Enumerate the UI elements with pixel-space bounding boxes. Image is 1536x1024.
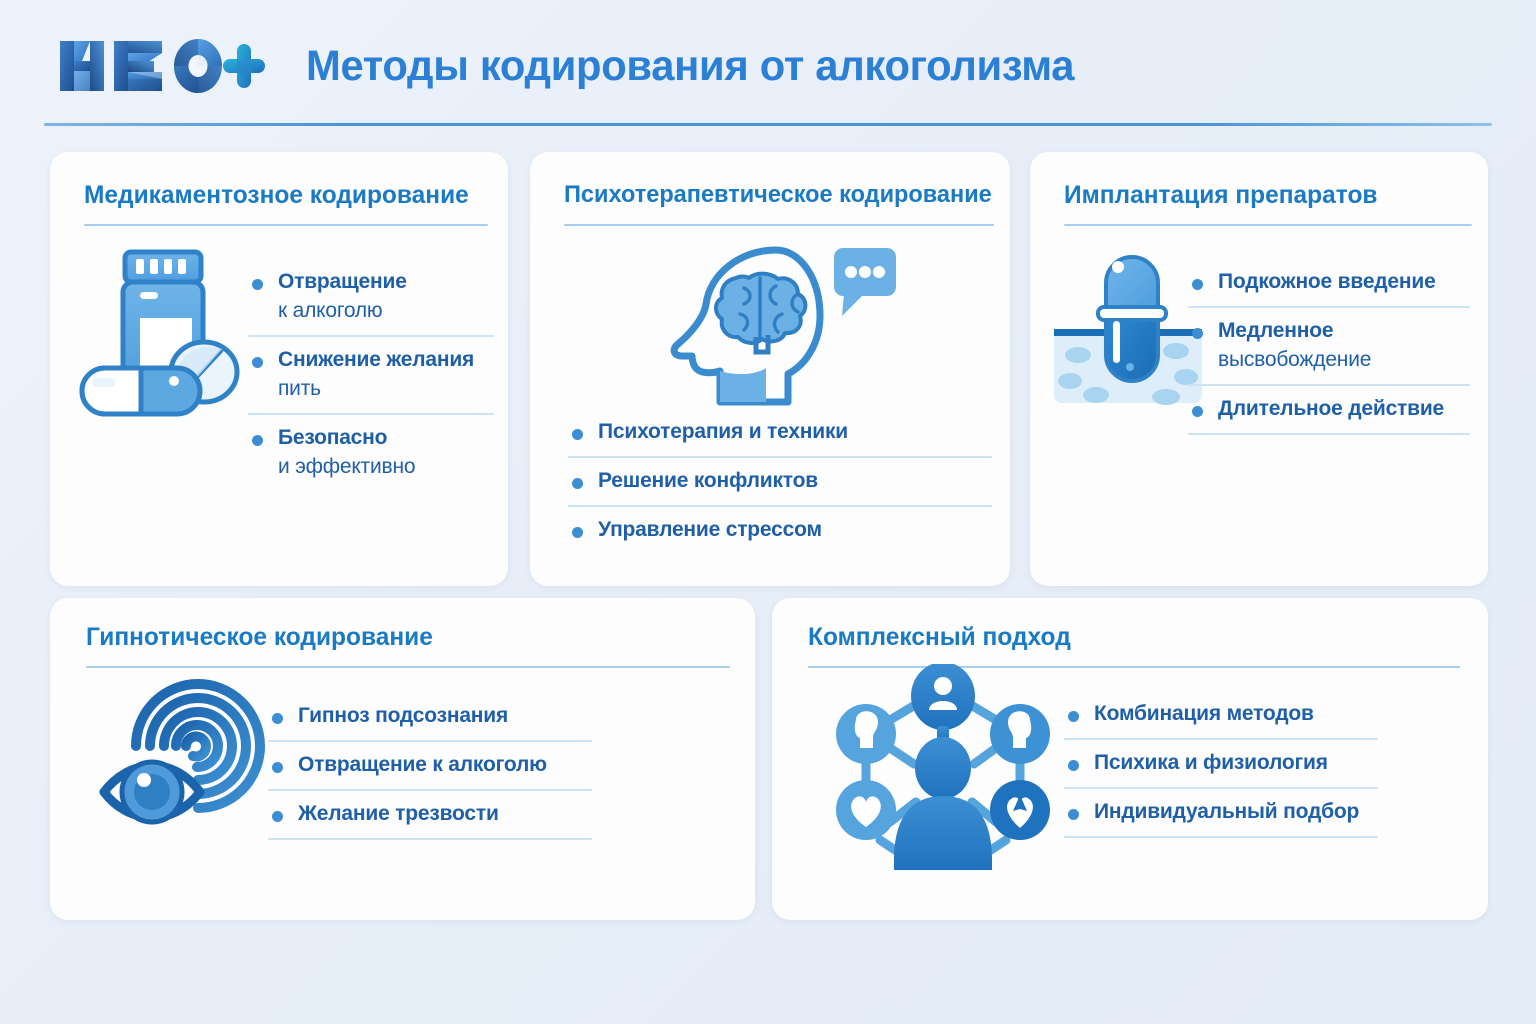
bullet-divider	[1188, 384, 1470, 386]
bullet-dot-icon	[572, 429, 583, 440]
bullet-divider	[1188, 433, 1470, 435]
bullet-divider	[568, 505, 992, 507]
neo-plus-logo	[56, 35, 268, 97]
page-title: Методы кодирования от алкоголизма	[306, 45, 1074, 88]
bullet-item: Отвращение к алкоголю	[252, 268, 494, 326]
bullet-item: Отвращение к алкоголю	[272, 751, 592, 780]
head-brain-speech-icon	[648, 242, 898, 417]
bullet-item: Снижение желания пить	[252, 346, 494, 404]
bullet-primary-text: Отвращение к алкоголю	[298, 751, 592, 780]
bullet-primary-text: Управление стрессом	[598, 516, 992, 545]
bullet-divider	[248, 413, 494, 415]
bullet-item: Решение конфликтов	[572, 467, 992, 496]
page-header: Методы кодирования от алкоголизма	[0, 0, 1536, 132]
bullet-divider	[268, 789, 592, 791]
bullet-dot-icon	[1068, 809, 1079, 820]
bullet-list: Психотерапия и техники Решение конфликто…	[572, 418, 992, 545]
card-title-divider	[564, 224, 994, 226]
bullet-item: Подкожное введение	[1192, 268, 1470, 297]
bullet-item: Психика и физиология	[1068, 749, 1378, 778]
bullet-secondary-text: и эффективно	[252, 453, 494, 482]
bullet-divider	[568, 456, 992, 458]
bullet-divider	[1064, 836, 1378, 838]
card-title-divider	[84, 224, 488, 226]
bullet-primary-text: Отвращение	[278, 268, 494, 297]
hypnosis-spiral-eye-icon	[98, 668, 276, 840]
bullet-dot-icon	[272, 713, 283, 724]
bullet-primary-text: Желание трезвости	[298, 800, 592, 829]
bullet-dot-icon	[1068, 711, 1079, 722]
bullet-item: Индивидуальный подбор	[1068, 798, 1378, 827]
card-title: Имплантация препаратов	[1064, 182, 1377, 210]
people-network-icon	[832, 664, 1054, 876]
bullet-item: Психотерапия и техники	[572, 418, 992, 447]
bullet-divider	[1064, 787, 1378, 789]
card-title: Психотерапевтическое кодирование	[564, 182, 992, 208]
bullet-divider	[1064, 738, 1378, 740]
bullet-secondary-text: к алкоголю	[252, 297, 494, 326]
bullet-dot-icon	[1192, 406, 1203, 417]
bullet-primary-text: Индивидуальный подбор	[1094, 798, 1378, 827]
bullet-divider	[268, 838, 592, 840]
bullet-list: Отвращение к алкоголю Снижение желания п…	[252, 268, 494, 482]
bullet-item: Управление стрессом	[572, 516, 992, 545]
bullet-divider	[248, 335, 494, 337]
bullet-primary-text: Гипноз подсознания	[298, 702, 592, 731]
bullet-primary-text: Длительное действие	[1218, 395, 1470, 424]
bullet-dot-icon	[572, 478, 583, 489]
bullet-primary-text: Снижение желания	[278, 346, 494, 375]
bullet-item: Гипноз подсознания	[272, 702, 592, 731]
bullet-dot-icon	[272, 811, 283, 822]
infographic-page: Методы кодирования от алкоголизма Медика…	[0, 0, 1536, 1024]
bullet-dot-icon	[1192, 328, 1203, 339]
bullet-primary-text: Психика и физиология	[1094, 749, 1378, 778]
bullet-dot-icon	[252, 357, 263, 368]
card-title-divider	[1064, 224, 1472, 226]
bullet-dot-icon	[1068, 760, 1079, 771]
card-title: Медикаментозное кодирование	[84, 182, 469, 210]
pill-bottle-icon	[78, 248, 248, 423]
bullet-item: Комбинация методов	[1068, 700, 1378, 729]
bullet-secondary-text: пить	[252, 375, 494, 404]
bullet-divider	[268, 740, 592, 742]
bullet-item: Длительное действие	[1192, 395, 1470, 424]
bullet-primary-text: Безопасно	[278, 424, 494, 453]
bullet-primary-text: Подкожное введение	[1218, 268, 1470, 297]
bullet-list: Комбинация методов Психика и физиология …	[1068, 700, 1378, 847]
bullet-primary-text: Решение конфликтов	[598, 467, 992, 496]
bullet-list: Гипноз подсознания Отвращение к алкоголю…	[272, 702, 592, 849]
bullet-dot-icon	[252, 435, 263, 446]
bullet-dot-icon	[252, 279, 263, 290]
implant-capsule-icon	[1048, 245, 1208, 410]
bullet-primary-text: Комбинация методов	[1094, 700, 1378, 729]
bullet-primary-text: Психотерапия и техники	[598, 418, 992, 447]
card-title: Гипнотическое кодирование	[86, 624, 433, 652]
header-divider	[44, 123, 1492, 126]
bullet-secondary-text: высвобождение	[1192, 346, 1470, 375]
bullet-dot-icon	[272, 762, 283, 773]
bullet-item: Медленное высвобождение	[1192, 317, 1470, 375]
bullet-primary-text: Медленное	[1218, 317, 1470, 346]
bullet-list: Подкожное введение Медленное высвобожден…	[1192, 268, 1470, 444]
bullet-item: Желание трезвости	[272, 800, 592, 829]
bullet-divider	[1188, 306, 1470, 308]
bullet-dot-icon	[572, 527, 583, 538]
card-title: Комплексный подход	[808, 624, 1071, 652]
bullet-dot-icon	[1192, 279, 1203, 290]
bullet-item: Безопасно и эффективно	[252, 424, 494, 482]
